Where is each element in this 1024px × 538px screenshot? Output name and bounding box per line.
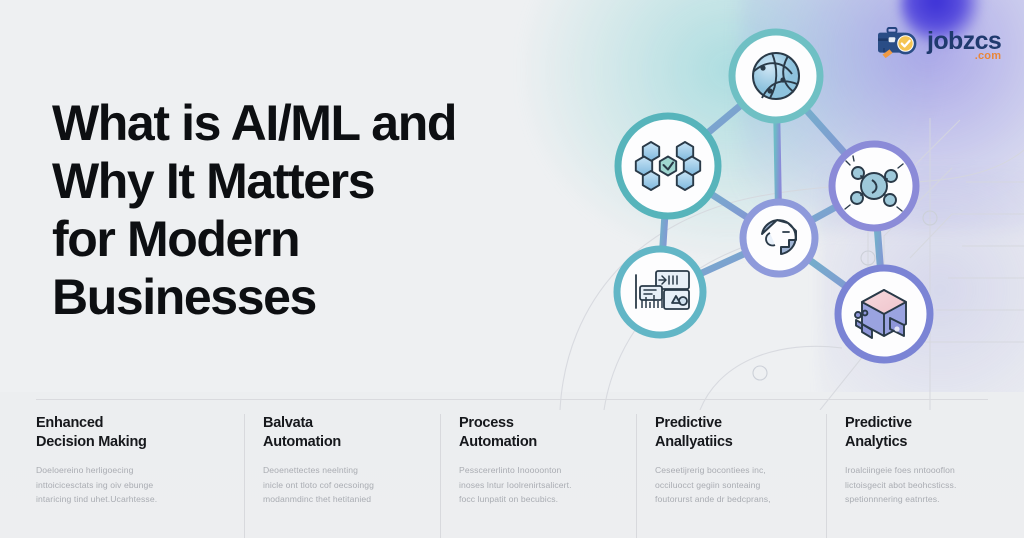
card-body-line-1: Doeloereino herligoecing xyxy=(36,463,230,477)
feature-card-predictive-analytics[interactable]: Predictive Analytics Iroalciingeie foes … xyxy=(826,414,1016,538)
card-body: Deoenettectes neelnting inicle ont tloto… xyxy=(263,463,426,506)
card-title-line-1: Predictive xyxy=(655,415,722,431)
card-body-line-2: occiluocct gegiin sonteaing xyxy=(655,478,812,492)
card-title-line-1: Enhanced xyxy=(36,415,103,431)
card-title-line-2: Automation xyxy=(459,433,622,452)
headline-line-1: What is AI/ML and xyxy=(52,94,592,152)
card-body-line-1: Iroalciingeie foes nntoooflon xyxy=(845,463,1002,477)
card-body-line-3: spetionnnering eatnrtes. xyxy=(845,492,1002,506)
node-neural-network xyxy=(732,32,820,120)
card-title: Enhanced Decision Making xyxy=(36,414,230,452)
headline-line-2: Why It Matters xyxy=(52,152,592,210)
card-title-line-2: Automation xyxy=(263,433,426,452)
card-body-line-3: foutorurst ande dr bedcprans, xyxy=(655,492,812,506)
hexagon-center xyxy=(660,157,676,176)
card-body-line-1: Ceseetijrerig bocontiees inc, xyxy=(655,463,812,477)
card-body-line-3: modanmdinc thet hetitanied xyxy=(263,492,426,506)
card-body-line-3: intaricing tind uhet.Ucarhtesse. xyxy=(36,492,230,506)
section-divider xyxy=(36,399,988,400)
card-body-line-1: Pesscererlinto Inoooonton xyxy=(459,463,622,477)
feature-card-process-automation[interactable]: Process Automation Pesscererlinto Inoooo… xyxy=(440,414,636,538)
card-body-line-1: Deoenettectes neelnting xyxy=(263,463,426,477)
feature-card-enhanced-decision-making[interactable]: Enhanced Decision Making Doeloereino her… xyxy=(36,414,244,538)
node-data-cube xyxy=(838,268,930,360)
card-body-line-2: inoses lntur Ioolrenirtsalicert. xyxy=(459,478,622,492)
card-body: Doeloereino herligoecing inttoicicesctat… xyxy=(36,463,230,506)
ai-network-diagram xyxy=(596,14,956,386)
card-body-line-2: lictoisgecit abot beohcsticss. xyxy=(845,478,1002,492)
card-body-line-2: inicle ont tloto cof oecsoingg xyxy=(263,478,426,492)
card-title-line-1: Predictive xyxy=(845,415,912,431)
card-title: Predictive Anallyatiics xyxy=(655,414,812,452)
card-body: Iroalciingeie foes nntoooflon lictoisgec… xyxy=(845,463,1002,506)
card-title-line-2: Anallyatiics xyxy=(655,433,812,452)
card-body-line-2: inttoicicesctats ing oiv ebunge xyxy=(36,478,230,492)
feature-cards-row: Enhanced Decision Making Doeloereino her… xyxy=(0,414,1024,538)
headline-line-4: Businesses xyxy=(52,268,592,326)
card-title: Process Automation xyxy=(459,414,622,452)
card-title-line-1: Process xyxy=(459,415,514,431)
card-title-line-1: Balvata xyxy=(263,415,313,431)
node-molecule-ai xyxy=(832,144,916,228)
card-title: Balvata Automation xyxy=(263,414,426,452)
headline-line-3: for Modern xyxy=(52,210,592,268)
card-body: Pesscererlinto Inoooonton inoses lntur I… xyxy=(459,463,622,506)
card-body: Ceseetijrerig bocontiees inc, occiluocct… xyxy=(655,463,812,506)
feature-card-predictive-anallyatiics[interactable]: Predictive Anallyatiics Ceseetijrerig bo… xyxy=(636,414,826,538)
page-headline: What is AI/ML and Why It Matters for Mod… xyxy=(52,94,592,327)
card-title-line-2: Decision Making xyxy=(36,433,230,452)
card-body-line-3: focc lunpatit on becubics. xyxy=(459,492,622,506)
feature-card-balvata-automation[interactable]: Balvata Automation Deoenettectes neelnti… xyxy=(244,414,440,538)
node-hexagon-cluster xyxy=(618,116,718,216)
node-ai-chip-core xyxy=(743,202,815,274)
card-title: Predictive Analytics xyxy=(845,414,1002,452)
banner-canvas: What is AI/ML and Why It Matters for Mod… xyxy=(0,0,1024,538)
card-title-line-2: Analytics xyxy=(845,433,1002,452)
node-analytics-panels xyxy=(617,249,703,335)
